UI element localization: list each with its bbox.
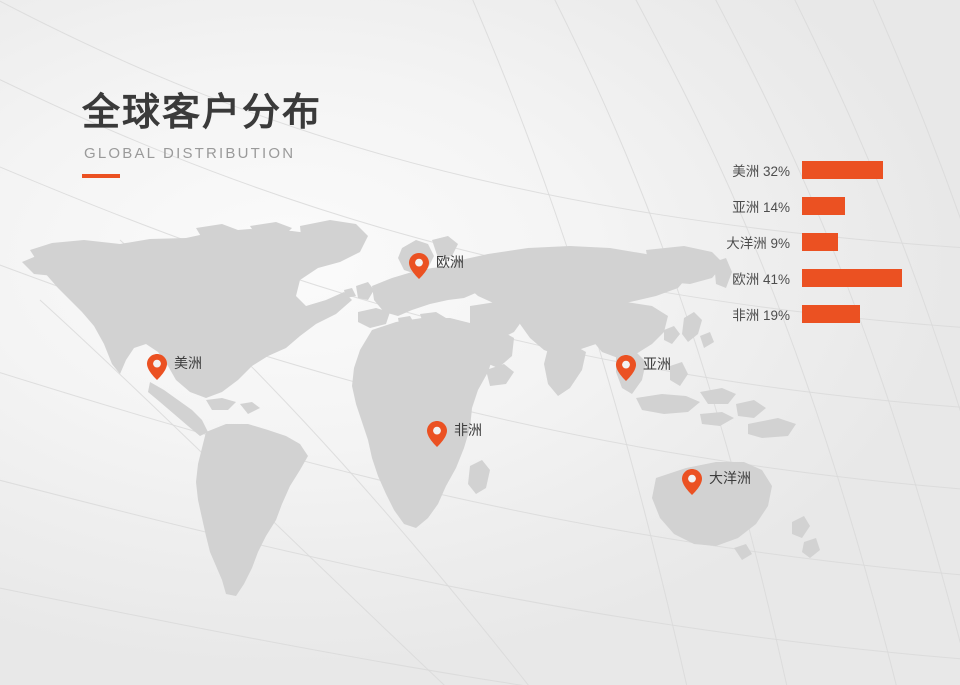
chart-row-label: 欧洲 41% (700, 268, 802, 288)
distribution-bar-chart: 美洲 32% 亚洲 14% 大洋洲 9% 欧洲 41% 非洲 19% (700, 152, 940, 332)
page-subtitle: GLOBAL DISTRIBUTION (84, 145, 602, 162)
location-pin-icon (408, 252, 430, 280)
map-pin-label: 大洋洲 (709, 471, 751, 493)
chart-row-track (802, 224, 940, 260)
chart-bar (802, 197, 845, 215)
chart-row-africa[interactable]: 非洲 19% (700, 296, 940, 332)
location-pin-icon (615, 354, 637, 382)
map-pin-asia[interactable]: 亚洲 (615, 354, 671, 382)
chart-bar (802, 233, 838, 251)
slide-canvas: 全球客户分布 GLOBAL DISTRIBUTION 美洲 欧洲 (0, 0, 960, 685)
map-pin-label: 欧洲 (436, 255, 464, 277)
chart-row-track (802, 296, 940, 332)
location-pin-icon (146, 353, 168, 381)
map-pin-africa[interactable]: 非洲 (426, 420, 482, 448)
map-pin-europe[interactable]: 欧洲 (408, 252, 464, 280)
chart-bar (802, 269, 902, 287)
chart-row-track (802, 260, 940, 296)
chart-row-track (802, 188, 940, 224)
chart-row-track (802, 152, 940, 188)
chart-bar (802, 305, 860, 323)
chart-row-americas[interactable]: 美洲 32% (700, 152, 940, 188)
map-pin-label: 亚洲 (643, 357, 671, 379)
header-block: 全球客户分布 GLOBAL DISTRIBUTION (82, 92, 602, 178)
map-pin-label: 美洲 (174, 356, 202, 378)
accent-bar (82, 174, 120, 178)
chart-row-label: 美洲 32% (700, 160, 802, 180)
map-pin-americas[interactable]: 美洲 (146, 353, 202, 381)
chart-row-label: 大洋洲 9% (700, 232, 802, 252)
chart-row-label: 亚洲 14% (700, 196, 802, 216)
page-title: 全球客户分布 (82, 92, 602, 136)
location-pin-icon (426, 420, 448, 448)
map-pin-label: 非洲 (454, 423, 482, 445)
chart-row-europe[interactable]: 欧洲 41% (700, 260, 940, 296)
location-pin-icon (681, 468, 703, 496)
map-pin-oceania[interactable]: 大洋洲 (681, 468, 751, 496)
chart-row-oceania[interactable]: 大洋洲 9% (700, 224, 940, 260)
chart-row-label: 非洲 19% (700, 304, 802, 324)
chart-row-asia[interactable]: 亚洲 14% (700, 188, 940, 224)
chart-bar (802, 161, 883, 179)
